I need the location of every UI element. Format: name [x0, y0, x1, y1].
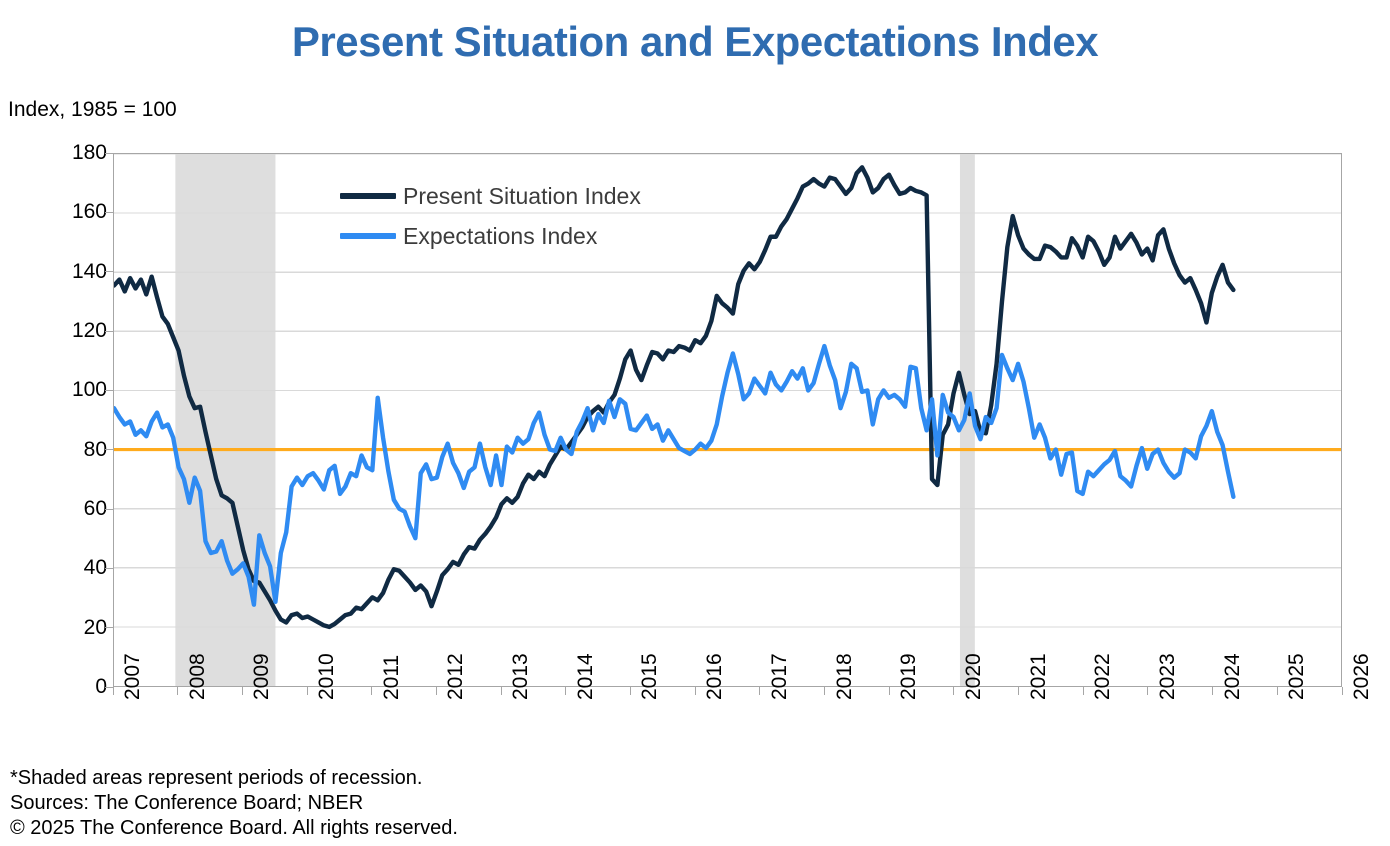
- y-axis-tick-mark: [105, 627, 113, 628]
- y-axis-tick-label: 40: [84, 556, 107, 580]
- y-axis-tick-mark: [105, 331, 113, 332]
- x-axis-tick-mark: [1212, 687, 1213, 695]
- footnote-recession: *Shaded areas represent periods of reces…: [10, 766, 458, 791]
- y-axis-tick-label: 160: [72, 200, 107, 224]
- series-line-expectations: [114, 346, 1233, 605]
- y-axis-tick-label: 180: [72, 141, 107, 165]
- legend-item-present-situation: Present Situation Index: [340, 176, 641, 216]
- x-axis-tick-mark: [630, 687, 631, 695]
- x-axis-tick-label: 2010: [315, 653, 339, 700]
- x-axis-tick-mark: [436, 687, 437, 695]
- x-axis-tick-mark: [565, 687, 566, 695]
- x-axis-tick-mark: [177, 687, 178, 695]
- x-axis-tick-label: 2013: [509, 653, 533, 700]
- x-axis-tick-label: 2026: [1350, 653, 1374, 700]
- y-axis-tick-label: 140: [72, 260, 107, 284]
- x-axis-tick-mark: [307, 687, 308, 695]
- x-axis-tick-mark: [953, 687, 954, 695]
- x-axis-tick-mark: [113, 687, 114, 695]
- y-axis-tick-label: 60: [84, 497, 107, 521]
- y-axis-tick-mark: [105, 509, 113, 510]
- x-axis-tick-mark: [1147, 687, 1148, 695]
- x-axis-tick-label: 2008: [186, 653, 210, 700]
- x-axis-tick-label: 2009: [250, 653, 274, 700]
- x-axis-tick-mark: [1018, 687, 1019, 695]
- x-axis-tick-label: 2018: [833, 653, 857, 700]
- x-axis-tick-mark: [824, 687, 825, 695]
- y-axis-tick-label: 80: [84, 438, 107, 462]
- legend-swatch-expectations: [340, 233, 396, 239]
- y-axis-tick-mark: [105, 153, 113, 154]
- legend-item-expectations: Expectations Index: [340, 216, 641, 256]
- x-axis-tick-label: 2012: [444, 653, 468, 700]
- x-axis-tick-label: 2022: [1091, 653, 1115, 700]
- x-axis-tick-mark: [695, 687, 696, 695]
- chart-footnotes: *Shaded areas represent periods of reces…: [10, 766, 458, 841]
- y-axis-tick-label: 100: [72, 378, 107, 402]
- x-axis-tick-label: 2016: [703, 653, 727, 700]
- y-axis-tick-mark: [105, 390, 113, 391]
- x-axis-tick-label: 2017: [768, 653, 792, 700]
- plot-area: [113, 153, 1342, 687]
- x-axis-tick-label: 2024: [1221, 653, 1245, 700]
- x-axis-tick-label: 2020: [962, 653, 986, 700]
- x-axis-tick-label: 2014: [574, 653, 598, 700]
- series-layer: [114, 167, 1233, 627]
- legend-label-present-situation: Present Situation Index: [403, 183, 641, 210]
- gridline-layer: [114, 154, 1341, 627]
- y-axis-tick-mark: [105, 271, 113, 272]
- recession-shaded-region: [175, 154, 275, 686]
- legend-label-expectations: Expectations Index: [403, 223, 597, 250]
- x-axis-tick-label: 2011: [380, 655, 404, 700]
- x-axis-tick-label: 2025: [1285, 653, 1309, 700]
- x-axis-tick-mark: [759, 687, 760, 695]
- y-axis-tick-label: 20: [84, 616, 107, 640]
- x-axis-tick-mark: [889, 687, 890, 695]
- x-axis-tick-label: 2015: [638, 653, 662, 700]
- x-axis-tick-mark: [1083, 687, 1084, 695]
- x-axis-tick-mark: [1342, 687, 1343, 695]
- y-axis-tick-mark: [105, 212, 113, 213]
- x-axis-tick-mark: [1277, 687, 1278, 695]
- chart-title: Present Situation and Expectations Index: [0, 18, 1390, 66]
- x-axis-tick-mark: [371, 687, 372, 695]
- x-axis-tick-label: 2007: [121, 653, 145, 700]
- footnote-copyright: © 2025 The Conference Board. All rights …: [10, 816, 458, 841]
- x-axis-tick-label: 2023: [1156, 653, 1180, 700]
- legend-swatch-present-situation: [340, 193, 396, 199]
- x-axis-tick-mark: [242, 687, 243, 695]
- chart-container: Present Situation and Expectations Index…: [0, 0, 1390, 846]
- chart-plot-svg: [114, 154, 1341, 686]
- x-axis-tick-label: 2021: [1027, 653, 1051, 700]
- y-axis-tick-mark: [105, 568, 113, 569]
- y-axis-units-note: Index, 1985 = 100: [8, 98, 177, 122]
- x-axis-tick-mark: [501, 687, 502, 695]
- chart-legend: Present Situation Index Expectations Ind…: [340, 176, 641, 256]
- y-axis-tick-mark: [105, 687, 113, 688]
- y-axis-tick-label: 120: [72, 319, 107, 343]
- footnote-sources: Sources: The Conference Board; NBER: [10, 791, 458, 816]
- y-axis-tick-mark: [105, 449, 113, 450]
- x-axis-tick-label: 2019: [897, 653, 921, 700]
